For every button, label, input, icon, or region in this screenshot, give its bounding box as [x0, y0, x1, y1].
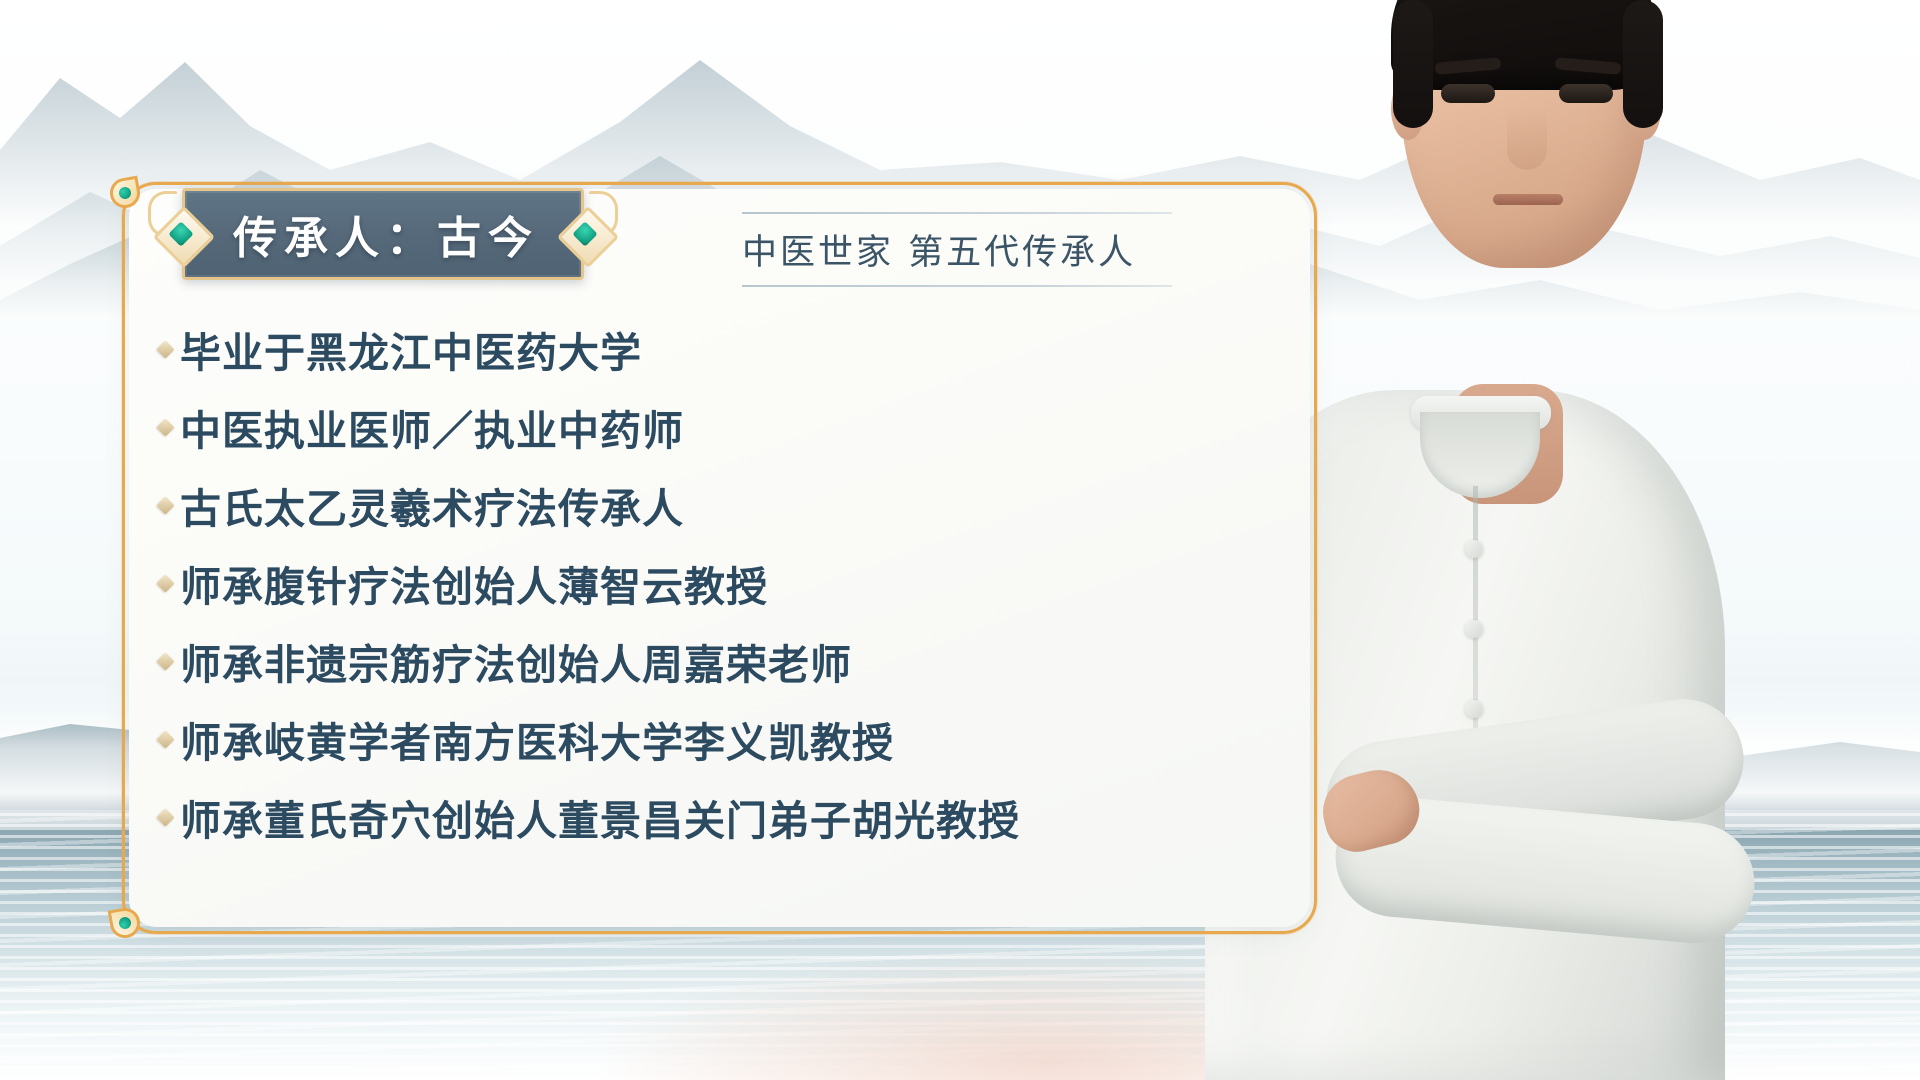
credential-text: 古氏太乙灵羲术疗法传承人 — [180, 475, 684, 535]
diamond-bullet-icon — [150, 499, 180, 512]
credential-text: 毕业于黑龙江中医药大学 — [180, 319, 642, 379]
credential-text: 师承董氏奇穴创始人董景昌关门弟子胡光教授 — [180, 787, 1020, 847]
jade-diamond-ornament-icon — [554, 203, 616, 265]
jade-diamond-ornament-icon — [150, 203, 212, 265]
diamond-bullet-icon — [150, 421, 180, 434]
title-plaque: 传承人：古今 — [148, 188, 618, 280]
diamond-bullet-icon — [150, 811, 180, 824]
diamond-bullet-icon — [150, 655, 180, 668]
credential-text: 师承非遗宗筋疗法创始人周嘉荣老师 — [180, 631, 852, 691]
warm-glow-accent — [600, 950, 1500, 1080]
diamond-bullet-icon — [150, 577, 180, 590]
gold-gem-corner-icon — [108, 176, 143, 211]
subtitle-rule-top — [742, 212, 1172, 214]
list-item: 师承腹针疗法创始人薄智云教授 — [150, 544, 1293, 622]
diamond-bullet-icon — [150, 733, 180, 746]
gold-gem-corner-icon — [108, 906, 143, 941]
list-item: 中医执业医师／执业中药师 — [150, 388, 1293, 466]
list-item: 师承岐黄学者南方医科大学李义凯教授 — [150, 700, 1293, 778]
page-title: 传承人：古今 — [182, 188, 584, 280]
subtitle-rule-bottom — [742, 285, 1172, 287]
list-item: 师承非遗宗筋疗法创始人周嘉荣老师 — [150, 622, 1293, 700]
list-item: 师承董氏奇穴创始人董景昌关门弟子胡光教授 — [150, 778, 1293, 856]
diamond-bullet-icon — [150, 343, 180, 356]
list-item: 古氏太乙灵羲术疗法传承人 — [150, 466, 1293, 544]
credential-text: 师承腹针疗法创始人薄智云教授 — [180, 553, 768, 613]
credentials-card: 传承人：古今 中医世家 第五代传承人 毕业于黑龙江中医药大学 中医执业医师／执业… — [122, 182, 1317, 934]
list-item: 毕业于黑龙江中医药大学 — [150, 310, 1293, 388]
subtitle-block: 中医世家 第五代传承人 — [742, 212, 1192, 287]
credential-text: 中医执业医师／执业中药师 — [180, 397, 684, 457]
credential-text: 师承岐黄学者南方医科大学李义凯教授 — [180, 709, 894, 769]
slide-root: 传承人：古今 中医世家 第五代传承人 毕业于黑龙江中医药大学 中医执业医师／执业… — [0, 0, 1920, 1080]
subtitle-text: 中医世家 第五代传承人 — [742, 224, 1192, 275]
credentials-list: 毕业于黑龙江中医药大学 中医执业医师／执业中药师 古氏太乙灵羲术疗法传承人 师承… — [150, 310, 1293, 856]
